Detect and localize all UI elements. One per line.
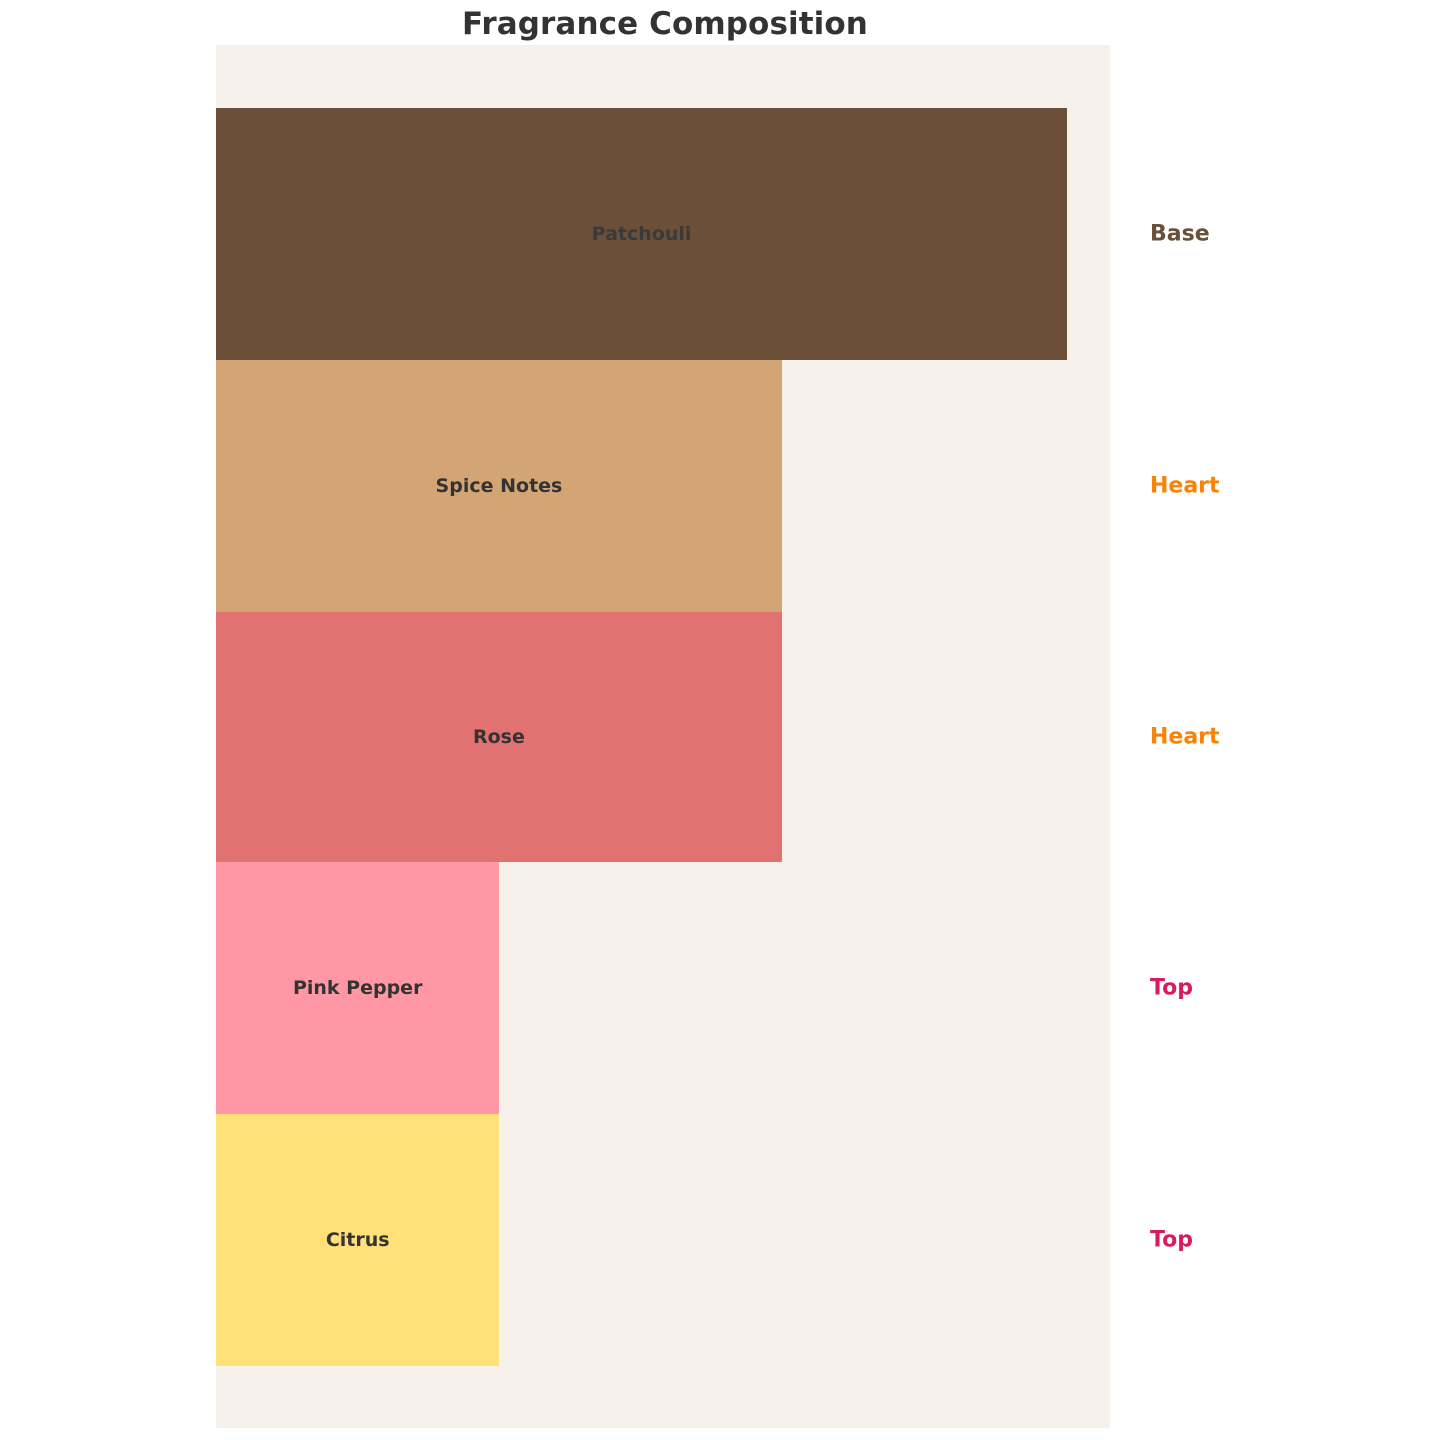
stage-label-heart-1: Heart	[1150, 474, 1220, 499]
stage-label-base-0: Base	[1150, 222, 1210, 247]
bar-label-patchouli: Patchouli	[216, 223, 1067, 245]
bar-row: Spice Notes	[216, 360, 1110, 612]
stage-label-top-4: Top	[1150, 1228, 1193, 1253]
bar-row: Pink Pepper	[216, 862, 1110, 1114]
bar-row: Patchouli	[216, 108, 1110, 360]
bar-label-citrus: Citrus	[216, 1229, 499, 1251]
fragrance-composition-chart: Fragrance Composition PatchouliSpice Not…	[0, 0, 1440, 1440]
stage-label-top-3: Top	[1150, 976, 1193, 1001]
bar-row: Rose	[216, 612, 1110, 862]
chart-title: Fragrance Composition	[0, 4, 1330, 44]
stage-label-heart-2: Heart	[1150, 725, 1220, 750]
bar-label-spice-notes: Spice Notes	[216, 475, 782, 497]
bar-label-pink-pepper: Pink Pepper	[216, 977, 499, 999]
bar-label-rose: Rose	[216, 726, 782, 748]
bar-row: Citrus	[216, 1114, 1110, 1366]
